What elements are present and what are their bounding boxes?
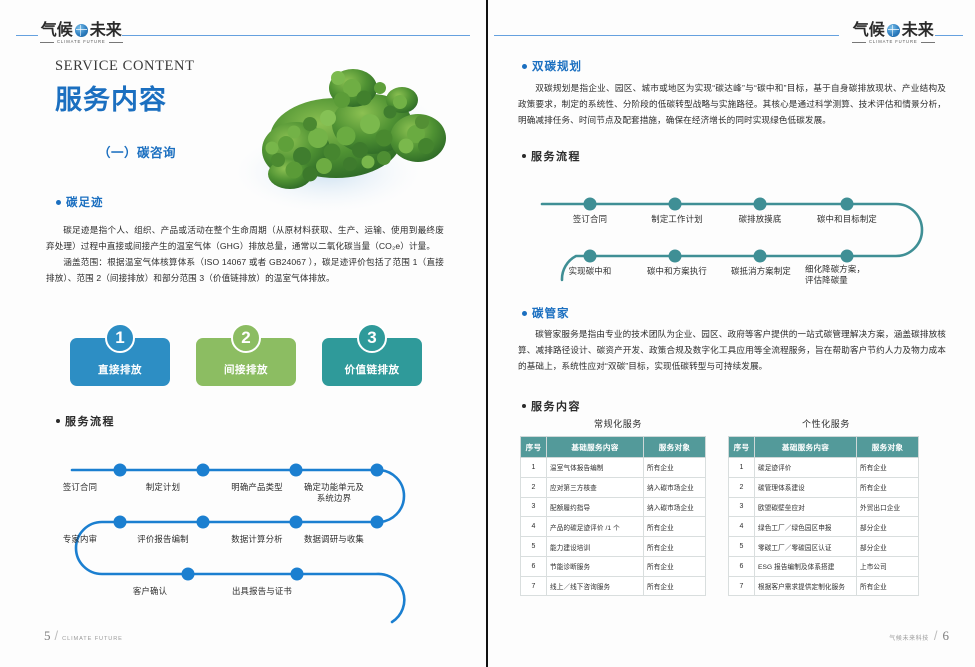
flow-label-r2-3: 碳抵消方案制定 [720,266,802,277]
col-index: 序号 [729,437,755,458]
col-index: 序号 [521,437,547,458]
footer-right: 气候未来科技 / 6 [889,628,949,644]
logo-dash-right [921,42,935,43]
table-row: 6 ESG 报告编制及体系搭建 上市公司 [729,556,919,576]
cell-index: 2 [729,477,755,497]
cell-index: 1 [729,458,755,478]
cell-content: 绿色工厂／绿色园区申报 [755,517,857,537]
logo-text-left: 气候 [853,22,885,38]
cell-index: 4 [729,517,755,537]
table-row: 1 温室气体报告编制 所有企业 [521,458,706,478]
carbon-footprint-body: 碳足迹是指个人、组织、产品或活动在整个生命周期（从原材料获取、生产、运输、使用到… [46,222,444,286]
cell-index: 7 [729,576,755,596]
cell-target: 上市公司 [857,556,919,576]
footer-slash: / [934,628,938,643]
cell-target: 所有企业 [644,576,706,596]
services-heading: 服务内容 [522,398,581,414]
table-row: 2 碳管理体系建设 所有企业 [729,477,919,497]
logo-text-right: 未来 [90,22,122,38]
flow-label-l3-1: 客户确认 [114,586,186,597]
cell-content: 碳管理体系建设 [755,477,857,497]
section-heading-text: 双碳规划 [532,58,582,74]
logo-subtitle-text: CLIMATE FUTURE [869,40,918,44]
cell-target: 部分企业 [857,537,919,557]
table-row: 6 节能诊断服务 所有企业 [521,556,706,576]
bullet-dot-icon [522,404,526,408]
scope-card-3-label: 价值链排放 [345,362,400,377]
logo-dash-right [109,42,123,43]
table-row: 5 能力建设培训 所有企业 [521,537,706,557]
cell-target: 所有企业 [857,576,919,596]
cell-content: 线上／线下咨询服务 [547,576,644,596]
logo-text-left: 气候 [41,22,73,38]
cell-target: 所有企业 [644,458,706,478]
cell-target: 所有企业 [644,556,706,576]
logo-wordmark: 气候 未来 [853,22,934,38]
cell-target: 纳入碳市场企业 [644,497,706,517]
cell-index: 4 [521,517,547,537]
table-row: 4 绿色工厂／绿色园区申报 部分企业 [729,517,919,537]
table-custom-services: 序号 基础服务内容 服务对象 1 碳足迹评价 所有企业 2 碳管理体系建设 所有… [728,436,919,596]
col-content: 基础服务内容 [755,437,857,458]
cell-index: 6 [521,556,547,576]
cell-target: 所有企业 [644,517,706,537]
col-content: 基础服务内容 [547,437,644,458]
cell-content: ESG 报告编制及体系搭建 [755,556,857,576]
logo-subtitle: CLIMATE FUTURE [852,40,935,44]
globe-icon [887,24,900,37]
scope-card-1-label: 直接排放 [98,362,142,377]
cell-content: 温室气体报告编制 [547,458,644,478]
flow-label-l1-4: 确定功能单元及 系统边界 [292,482,376,504]
footer-left: 5 / CLIMATE FUTURE [44,628,123,644]
table-title-custom: 个性化服务 [736,417,916,430]
cell-target: 纳入碳市场企业 [644,477,706,497]
cell-content: 配额履约指导 [547,497,644,517]
globe-icon [75,24,88,37]
table-row: 3 配额履约指导 纳入碳市场企业 [521,497,706,517]
cell-content: 产品的碳足迹评价 /1 个 [547,517,644,537]
header-rule-right-start [494,35,839,36]
dual-carbon-plan-body: 双碳规划是指企业、园区、城市或地区为实现“碳达峰”与“碳中和”目标，基于自身碳排… [518,80,946,128]
flow-label-l2-1: 专家内审 [44,534,116,545]
table-row: 2 应对第三方核查 纳入碳市场企业 [521,477,706,497]
cell-content: 零碳工厂／零碳园区认证 [755,537,857,557]
flow-label-l1-2: 制定计划 [127,482,199,493]
brand-logo-left: 气候 未来 CLIMATE FUTURE [40,22,123,44]
header-rule-right-end [935,35,963,36]
section-heading-text: 碳管家 [532,305,570,321]
flow-label-r1-4: 碳中和目标制定 [803,214,891,225]
flow-label-r1-2: 制定工作计划 [637,214,717,225]
cell-target: 所有企业 [644,537,706,557]
cell-target: 外贸出口企业 [857,497,919,517]
paragraph-1: 碳管家服务是指由专业的技术团队为企业、园区、政府等客户提供的一站式碳管理解决方案… [518,326,946,374]
footer-page-number: 5 [44,628,51,644]
cell-index: 6 [729,556,755,576]
table-row: 7 线上／线下咨询服务 所有企业 [521,576,706,596]
flow-label-l2-4: 数据调研与收集 [290,534,378,545]
logo-subtitle-text: CLIMATE FUTURE [57,40,106,44]
cell-index: 5 [521,537,547,557]
flow-label-l3-2: 出具报告与证书 [216,586,308,597]
flow-label-r2-1: 实现碳中和 [554,266,626,277]
cell-target: 所有企业 [857,458,919,478]
flow-label-l1-1: 签订合同 [44,482,116,493]
logo-subtitle: CLIMATE FUTURE [40,40,123,44]
table-header-row: 序号 基础服务内容 服务对象 [521,437,706,458]
cell-index: 3 [521,497,547,517]
paragraph-2: 涵盖范围：根据温室气体核算体系（ISO 14067 或者 GB24067 ），碳… [46,254,444,286]
flow-label-r1-1: 签订合同 [554,214,626,225]
bullet-dot-icon [522,64,527,69]
cell-content: 根据客户需求提供定制化服务 [755,576,857,596]
flow-label-l2-3: 数据计算分析 [218,534,296,545]
table-row: 1 碳足迹评价 所有企业 [729,458,919,478]
bullet-dot-icon [522,311,527,316]
table-row: 3 欧盟碳壁垒应对 外贸出口企业 [729,497,919,517]
cell-content: 能力建设培训 [547,537,644,557]
cell-target: 所有企业 [857,477,919,497]
table-row: 7 根据客户需求提供定制化服务 所有企业 [729,576,919,596]
paragraph-1: 碳足迹是指个人、组织、产品或活动在整个生命周期（从原材料获取、生产、运输、使用到… [46,222,444,254]
table-row: 4 产品的碳足迹评价 /1 个 所有企业 [521,517,706,537]
cell-index: 5 [729,537,755,557]
logo-dash-left [852,42,866,43]
cell-index: 7 [521,576,547,596]
header-rule-left-end [122,35,470,36]
services-heading-text: 服务内容 [531,398,581,414]
bullet-dot-icon [56,200,61,205]
bullet-dot-icon [56,419,60,423]
paragraph-1: 双碳规划是指企业、园区、城市或地区为实现“碳达峰”与“碳中和”目标，基于自身碳排… [518,80,946,128]
section-heading-carbon-footprint: 碳足迹 [56,194,104,210]
flow-label-l2-2: 评价报告编制 [124,534,202,545]
table-header-row: 序号 基础服务内容 服务对象 [729,437,919,458]
bullet-dot-icon [522,154,526,158]
cell-content: 应对第三方核查 [547,477,644,497]
cell-content: 节能诊断服务 [547,556,644,576]
scope-card-3-badge: 3 [357,323,387,353]
section-heading-carbon-steward: 碳管家 [522,305,570,321]
brochure-spread: 气候 未来 CLIMATE FUTURE SERVICE CONTENT 服务内… [0,0,975,667]
col-target: 服务对象 [644,437,706,458]
page-eyebrow: SERVICE CONTENT [55,58,195,75]
scope-card-1-badge: 1 [105,323,135,353]
footer-brand-name: 气候未来科技 [889,633,929,642]
flow-label-r2-2: 碳中和方案执行 [635,266,719,277]
right-page: 气候 未来 CLIMATE FUTURE 双碳规划 双碳规划是指企业、园区、城市… [487,0,975,667]
table-title-standard: 常规化服务 [528,417,708,430]
brand-logo-right: 气候 未来 CLIMATE FUTURE [852,22,935,44]
footer-brand-name: CLIMATE FUTURE [62,636,123,642]
section-heading-text: 碳足迹 [66,194,104,210]
footer-slash: / [55,628,59,643]
section-heading-dual-carbon-plan: 双碳规划 [522,58,582,74]
flow-label-r2-4: 细化降碳方案， 评估降碳量 [805,264,891,286]
cell-content: 欧盟碳壁垒应对 [755,497,857,517]
flow-label-r1-3: 碳排放摸底 [724,214,796,225]
cell-index: 3 [729,497,755,517]
scope-card-2-badge: 2 [231,323,261,353]
aerial-forest-image [232,52,472,232]
logo-wordmark: 气候 未来 [41,22,122,38]
left-page: 气候 未来 CLIMATE FUTURE SERVICE CONTENT 服务内… [0,0,487,667]
cell-index: 1 [521,458,547,478]
header-rule-left-start [16,35,38,36]
service-flow-diagram-left [40,430,440,630]
logo-dash-left [40,42,54,43]
table-row: 5 零碳工厂／零碳园区认证 部分企业 [729,537,919,557]
cell-index: 2 [521,477,547,497]
logo-text-right: 未来 [902,22,934,38]
footer-page-number: 6 [943,628,950,644]
flow-heading-text: 服务流程 [65,413,115,429]
page-title: 服务内容 [55,78,167,117]
scope-card-2-label: 间接排放 [224,362,268,377]
cell-content: 碳足迹评价 [755,458,857,478]
col-target: 服务对象 [857,437,919,458]
flow-label-l1-3: 明确产品类型 [218,482,296,493]
table-standard-services: 序号 基础服务内容 服务对象 1 温室气体报告编制 所有企业 2 应对第三方核查… [520,436,706,596]
carbon-steward-body: 碳管家服务是指由专业的技术团队为企业、园区、政府等客户提供的一站式碳管理解决方案… [518,326,946,374]
flow-heading-left: 服务流程 [56,413,115,429]
cell-target: 部分企业 [857,517,919,537]
page-subtitle: （一）碳咨询 [98,142,176,161]
